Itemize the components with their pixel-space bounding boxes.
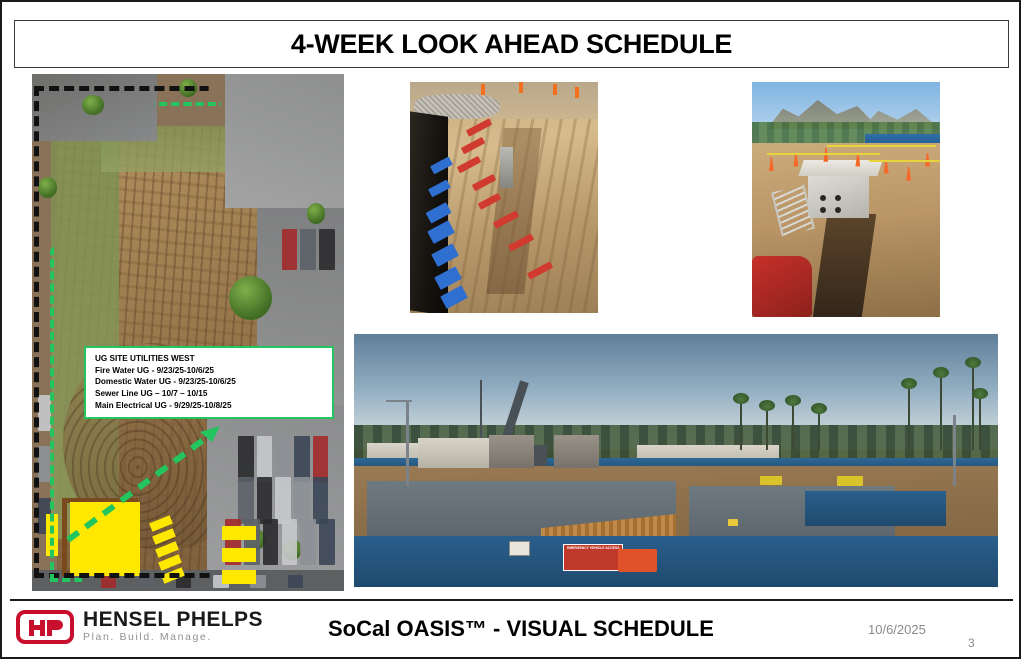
tree-canopy — [307, 203, 326, 224]
conduit-port — [835, 207, 841, 213]
vehicle — [275, 477, 291, 524]
callout-line-domesticwater: Domestic Water UG - 9/23/25-10/6/25 — [95, 376, 325, 388]
vehicle — [282, 519, 298, 566]
vehicle — [288, 575, 304, 587]
office-trailer — [222, 548, 256, 562]
light-pole — [953, 415, 956, 486]
fence-screen-right — [805, 491, 947, 526]
footer-divider — [10, 599, 1013, 601]
caution-tape-line — [827, 145, 936, 147]
foreground-fence-screen — [354, 536, 998, 587]
caution-tape-line — [767, 153, 880, 155]
wall-formwork — [489, 435, 534, 468]
aerial-site-plan: UG SITE UTILITIES WEST Fire Water UG - 9… — [32, 74, 344, 591]
palm-tree — [972, 364, 974, 450]
safety-cone — [553, 84, 557, 95]
wall-formwork — [554, 435, 599, 468]
light-pole-arm — [386, 400, 412, 402]
sign-text: EMERGENCY VEHICLE ACCESS — [564, 545, 622, 550]
safety-cone — [575, 87, 579, 98]
crane-cable — [480, 380, 483, 446]
vehicle — [300, 229, 316, 270]
vehicle — [294, 436, 310, 483]
project-title: SoCal OASIS™ - VISUAL SCHEDULE — [328, 616, 714, 642]
site-panorama-photo: EMERGENCY VEHICLE ACCESS — [354, 334, 998, 587]
company-tagline: Plan. Build. Manage. — [83, 631, 263, 645]
safety-cone — [519, 82, 523, 93]
safety-placard — [509, 541, 530, 556]
water-barrier — [618, 549, 657, 572]
utilities-callout-box: UG SITE UTILITIES WEST Fire Water UG - 9… — [84, 346, 334, 419]
concrete-wall-panel — [418, 438, 489, 468]
loader — [760, 476, 782, 485]
callout-heading: UG SITE UTILITIES WEST — [95, 353, 325, 365]
callout-line-firewater: Fire Water UG - 9/23/25-10/6/25 — [95, 365, 325, 377]
callout-line-electrical: Main Electrical UG - 9/29/25-10/8/25 — [95, 400, 325, 412]
slide-date: 10/6/2025 — [868, 622, 926, 637]
company-name: HENSEL PHELPS — [83, 609, 263, 631]
office-trailer — [222, 570, 256, 584]
palm-tree — [979, 395, 981, 451]
caution-tape-line — [869, 160, 940, 162]
callout-line-sewer: Sewer Line UG – 10/7 – 10/15 — [95, 388, 325, 400]
vehicle — [282, 229, 298, 270]
safety-cone — [481, 84, 485, 95]
slide-number: 3 — [968, 636, 975, 650]
hensel-phelps-monogram-icon — [16, 610, 74, 644]
light-pole — [406, 400, 409, 486]
palm-tree — [740, 400, 742, 451]
vehicle — [313, 436, 329, 483]
concrete-post — [500, 147, 513, 189]
palm-tree — [908, 385, 910, 451]
vehicle — [313, 477, 329, 524]
office-trailer — [222, 526, 256, 540]
vehicle — [263, 519, 279, 566]
palm-tree — [792, 402, 794, 450]
vehicle — [257, 436, 273, 483]
slide: 4-WEEK LOOK AHEAD SCHEDULE — [0, 0, 1021, 659]
conduit-port — [820, 207, 826, 213]
vehicle — [294, 477, 310, 524]
conduit-port — [820, 195, 826, 201]
company-wordmark: HENSEL PHELPS Plan. Build. Manage. — [83, 609, 263, 645]
palm-tree — [766, 407, 768, 450]
utility-vault-photo — [752, 82, 940, 317]
callout-leader-line — [62, 426, 222, 546]
tool-bag — [752, 256, 812, 317]
excavator — [837, 476, 863, 486]
yellow-bucket — [728, 519, 738, 527]
trench-conduit-photo — [410, 82, 598, 313]
conduit-port — [835, 195, 841, 201]
vehicle — [319, 519, 335, 566]
vault-lid — [798, 160, 882, 176]
emergency-vehicle-access-sign: EMERGENCY VEHICLE ACCESS — [563, 544, 623, 571]
company-logo: HENSEL PHELPS Plan. Build. Manage. — [16, 609, 263, 645]
vehicle — [300, 519, 316, 566]
vehicle — [319, 229, 335, 270]
page-title: 4-WEEK LOOK AHEAD SCHEDULE — [291, 29, 732, 60]
title-box: 4-WEEK LOOK AHEAD SCHEDULE — [14, 20, 1009, 68]
vehicle — [275, 436, 291, 483]
vehicle — [257, 477, 273, 524]
palm-tree — [940, 374, 942, 450]
palm-tree — [818, 410, 820, 450]
